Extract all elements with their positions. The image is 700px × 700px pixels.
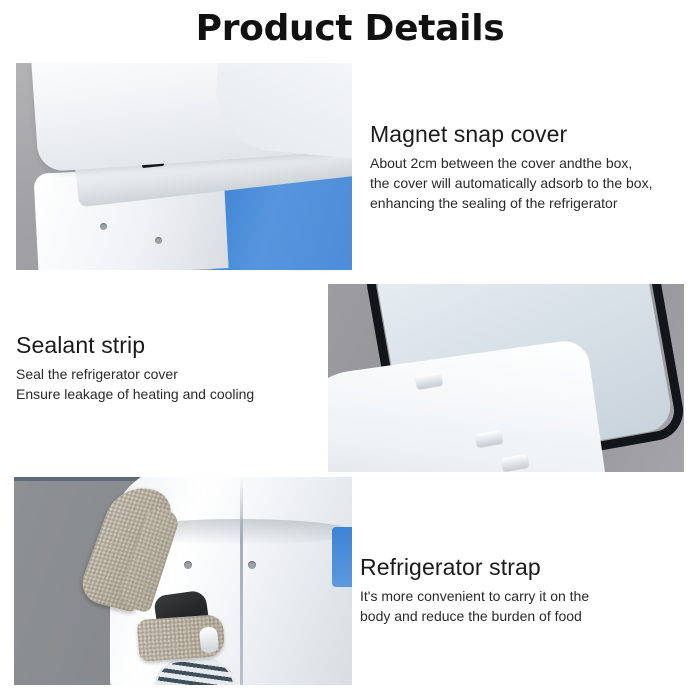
section-heading-sealant: Sealant strip — [16, 333, 326, 358]
body-line: Seal the refrigerator cover — [16, 365, 326, 385]
page-title: Product Details — [0, 8, 700, 49]
section-heading-strap: Refrigerator strap — [360, 555, 690, 580]
caption-magnet-snap-cover: Magnet snap cover About 2cm between the … — [370, 122, 690, 214]
screw-icon — [100, 223, 107, 230]
body-line: body and reduce the burden of food — [360, 607, 690, 627]
cooler-open-lid-photo — [16, 63, 352, 270]
screw-icon — [248, 561, 256, 569]
body-line: It's more convenient to carry it on the — [360, 587, 690, 607]
screw-icon — [184, 561, 192, 569]
caption-sealant-strip: Sealant strip Seal the refrigerator cove… — [16, 333, 326, 405]
lid-sealant-gasket-photo — [328, 284, 684, 472]
body-line: the cover will automatically adsorb to t… — [370, 174, 690, 194]
section-heading-magnet: Magnet snap cover — [370, 122, 690, 147]
strap-keeper-loop — [199, 626, 220, 654]
section-body-sealant: Seal the refrigerator cover Ensure leaka… — [16, 365, 326, 405]
section-body-strap: It's more convenient to carry it on the … — [360, 587, 690, 627]
screw-icon — [155, 237, 162, 244]
product-details-page: Product Details Magnet snap cover About … — [0, 0, 700, 700]
carry-strap-photo — [14, 477, 352, 685]
caption-refrigerator-strap: Refrigerator strap It's more convenient … — [360, 555, 690, 627]
body-seam-line — [240, 477, 243, 685]
cooler-blue-edge — [332, 527, 352, 587]
body-line: About 2cm between the cover andthe box, — [370, 154, 690, 174]
body-line: Ensure leakage of heating and cooling — [16, 385, 326, 405]
body-line: enhancing the sealing of the refrigerato… — [370, 194, 690, 214]
section-body-magnet: About 2cm between the cover andthe box, … — [370, 154, 690, 214]
